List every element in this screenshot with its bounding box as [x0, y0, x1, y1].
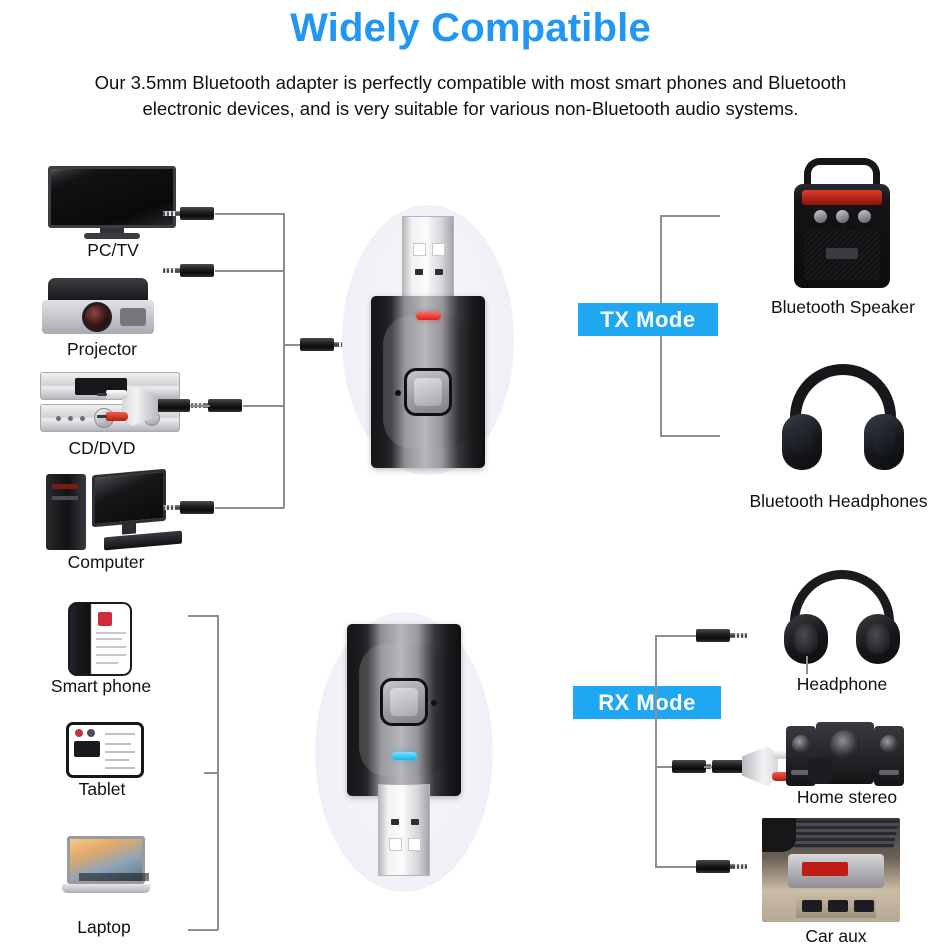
home-stereo-icon [786, 722, 904, 788]
tx-branch-wire-computer [215, 507, 284, 509]
device-label-bluetooth-speaker: Bluetooth Speaker [750, 297, 936, 318]
usb-bluetooth-adapter-rx [347, 624, 461, 876]
rx-bracket-arm-middle [204, 772, 218, 774]
projector-icon [42, 278, 154, 340]
tx-mic-hole-icon [395, 390, 401, 396]
tx-branch-wire-cd-dvd-mid [190, 405, 210, 407]
page-title: Widely Compatible [0, 2, 941, 54]
television-icon [48, 166, 176, 240]
tx-branch-wire-pc-tv [215, 213, 284, 215]
usb-bluetooth-adapter-tx [371, 216, 485, 468]
tx-branch-wire-cd-dvd [243, 405, 284, 407]
intro-line-1: Our 3.5mm Bluetooth adapter is perfectly… [6, 70, 935, 96]
device-label-smart-phone: Smart phone [22, 676, 180, 697]
tx-bracket-arm-headphones [660, 435, 720, 437]
tx-mode-badge: TX Mode [578, 303, 718, 336]
device-label-laptop: Laptop [30, 917, 178, 938]
rca-stereo-plug-icon-cd-dvd [106, 386, 158, 426]
tx-led-red-icon [416, 312, 441, 320]
bluetooth-headphones-icon [782, 364, 904, 474]
tx-bus-vertical-wire [283, 213, 285, 508]
infographic-canvas: Widely Compatible Our 3.5mm Bluetooth ad… [0, 0, 941, 951]
device-label-bluetooth-headphones: Bluetooth Headphones [736, 491, 941, 512]
rx-mode-badge: RX Mode [573, 686, 721, 719]
bluetooth-speaker-icon [790, 158, 894, 288]
rx-led-blue-icon [392, 752, 417, 760]
device-label-computer: Computer [30, 552, 182, 573]
rx-bracket-arm-top [188, 615, 218, 617]
device-label-headphone: Headphone [766, 674, 918, 695]
device-label-projector: Projector [28, 339, 176, 360]
device-label-cd-dvd: CD/DVD [28, 438, 176, 459]
rx-mic-hole-icon [431, 700, 437, 706]
rx-adapter-button[interactable] [380, 678, 428, 726]
tx-branch-wire-projector [215, 270, 284, 272]
smartphone-icon [68, 602, 132, 676]
rx-bracket-arm-bottom [188, 929, 218, 931]
laptop-icon [62, 836, 150, 898]
tx-bracket-arm-speaker [660, 215, 720, 217]
wired-headphone-icon [784, 570, 900, 674]
device-label-home-stereo: Home stereo [762, 787, 932, 808]
device-label-tablet: Tablet [28, 779, 176, 800]
rx-bus-vertical-wire [655, 635, 657, 867]
car-aux-icon [762, 818, 900, 922]
intro-line-2: electronic devices, and is very suitable… [6, 96, 935, 122]
desktop-computer-icon [44, 470, 184, 550]
tx-adapter-button[interactable] [404, 368, 452, 416]
device-label-pc-tv: PC/TV [38, 240, 188, 261]
device-label-car-aux: Car aux [762, 926, 910, 947]
rx-branch-wire-headphone [655, 635, 699, 637]
intro-paragraph: Our 3.5mm Bluetooth adapter is perfectly… [6, 70, 935, 122]
rx-branch-wire-car-aux [655, 866, 699, 868]
tablet-icon [66, 722, 144, 778]
